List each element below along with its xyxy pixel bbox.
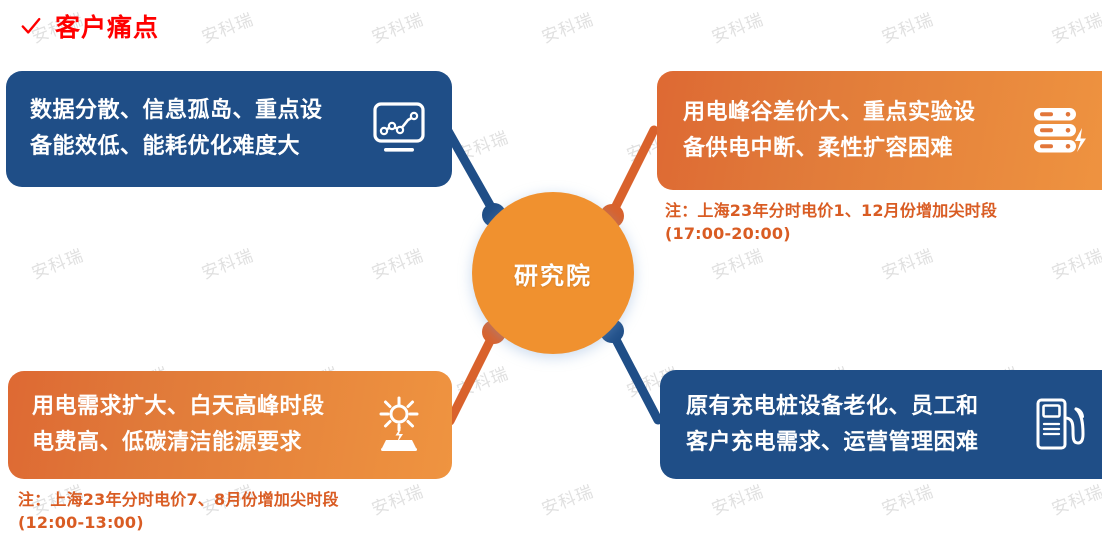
note-top-right: 注：上海23年分时电价1、12月份增加尖时段 (17:00-20:00): [665, 200, 997, 245]
pain-point-card-top-left[interactable]: 数据分散、信息孤岛、重点设 备能效低、能耗优化难度大: [6, 71, 452, 187]
connector-line-top-left: [448, 131, 495, 214]
card-line: 用电需求扩大、白天高峰时段: [32, 389, 368, 425]
card-text-bottom-left: 用电需求扩大、白天高峰时段 电费高、低碳清洁能源要求: [32, 389, 368, 460]
pain-point-card-bottom-right[interactable]: 原有充电桩设备老化、员工和 客户充电需求、运营管理困难: [660, 370, 1102, 479]
solar-panel-sun-icon: [368, 394, 430, 456]
pain-point-card-bottom-left[interactable]: 用电需求扩大、白天高峰时段 电费高、低碳清洁能源要求: [8, 371, 452, 479]
card-text-top-left: 数据分散、信息孤岛、重点设 备能效低、能耗优化难度大: [30, 93, 368, 164]
connector-line-bottom-left: [450, 333, 494, 421]
card-line: 备能效低、能耗优化难度大: [30, 129, 368, 165]
card-line: 备供电中断、柔性扩容困难: [683, 131, 1029, 167]
server-rack-power-icon: [1029, 100, 1091, 162]
center-hub[interactable]: 研究院: [472, 192, 634, 354]
slide-canvas: 安科瑞安科瑞安科瑞安科瑞安科瑞安科瑞安科瑞安科瑞安科瑞安科瑞安科瑞安科瑞安科瑞安…: [0, 0, 1102, 541]
connector-line-bottom-right: [612, 332, 658, 420]
card-line: 用电峰谷差价大、重点实验设: [683, 95, 1029, 131]
card-text-top-right: 用电峰谷差价大、重点实验设 备供电中断、柔性扩容困难: [683, 95, 1029, 166]
card-line: 客户充电需求、运营管理困难: [686, 425, 1030, 461]
page-title-row: 客户痛点: [20, 8, 159, 44]
pain-point-card-top-right[interactable]: 用电峰谷差价大、重点实验设 备供电中断、柔性扩容困难: [657, 71, 1102, 190]
card-text-bottom-right: 原有充电桩设备老化、员工和 客户充电需求、运营管理困难: [686, 389, 1030, 460]
note-line: 注：上海23年分时电价1、12月份增加尖时段: [665, 200, 997, 223]
card-line: 原有充电桩设备老化、员工和: [686, 389, 1030, 425]
ev-charging-pile-icon: [1030, 394, 1092, 456]
note-line: (12:00-13:00): [18, 512, 339, 535]
check-icon: [20, 15, 42, 37]
monitor-chart-icon: [368, 98, 430, 160]
connector-line-top-right: [611, 130, 654, 216]
card-line: 电费高、低碳清洁能源要求: [32, 425, 368, 461]
note-line: 注：上海23年分时电价7、8月份增加尖时段: [18, 489, 339, 512]
note-line: (17:00-20:00): [665, 223, 997, 246]
note-bottom-left: 注：上海23年分时电价7、8月份增加尖时段 (12:00-13:00): [18, 489, 339, 534]
center-hub-label: 研究院: [514, 256, 592, 291]
card-line: 数据分散、信息孤岛、重点设: [30, 93, 368, 129]
page-title: 客户痛点: [55, 8, 159, 44]
